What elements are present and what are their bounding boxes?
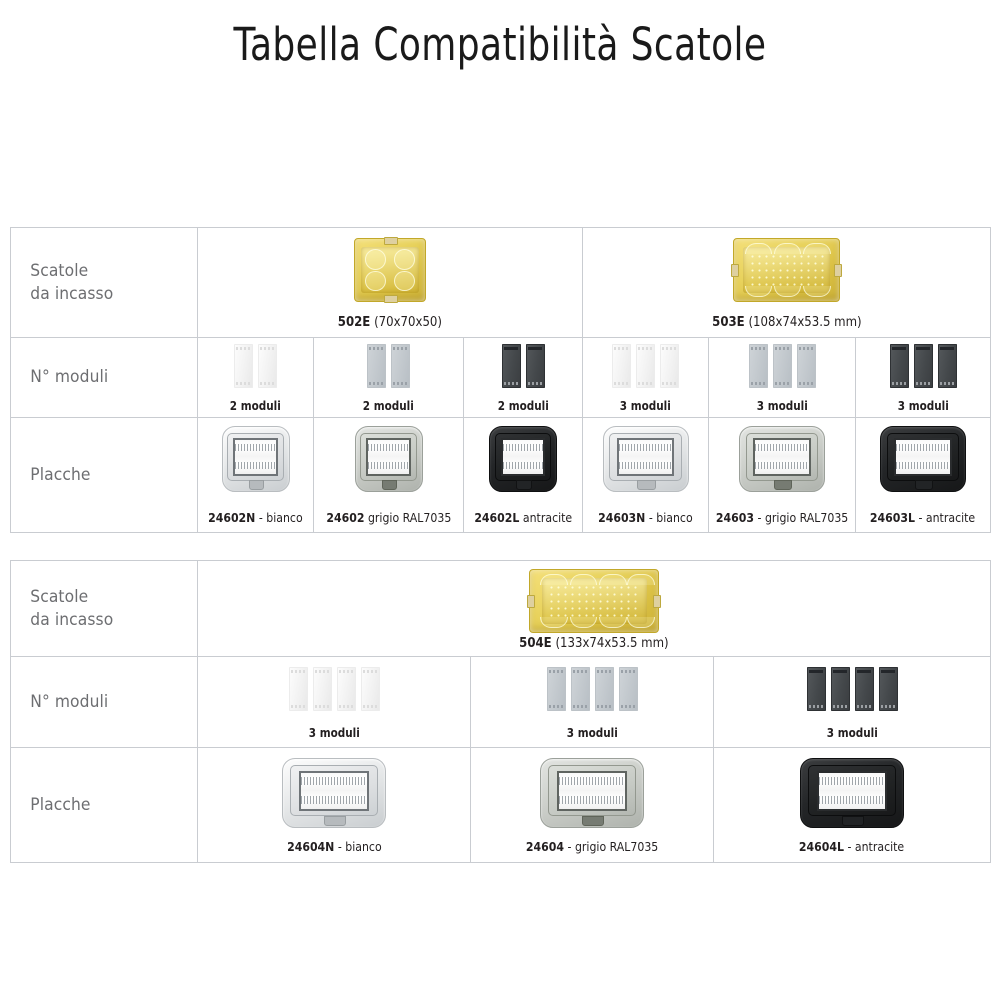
row-label-placche: Placche bbox=[11, 748, 187, 863]
box-caption-502e: 502E (70x70x50) bbox=[338, 316, 442, 330]
row-label-moduli-text: N° moduli bbox=[30, 367, 108, 386]
module-count-label: 3 moduli bbox=[897, 400, 948, 412]
row-label-moduli: N° moduli bbox=[11, 657, 187, 748]
plate-cell-24602l: 24602L antracite bbox=[464, 418, 583, 533]
plate-image-antracite bbox=[489, 426, 557, 492]
page-title: Tabella Compatibilità Scatole bbox=[100, 18, 900, 71]
plate-cell-24604l: 24604L - antracite bbox=[714, 748, 991, 863]
plate-caption: 24604 - grigio RAL7035 bbox=[526, 841, 658, 854]
row-label-scatole-line1: Scatole bbox=[30, 587, 88, 606]
module-cell-4-grigio: 3 moduli bbox=[471, 657, 714, 748]
row-label-moduli: N° moduli bbox=[11, 338, 187, 418]
plate-caption: 24604N - bianco bbox=[287, 841, 382, 854]
plate-caption: 24603 - grigio RAL7035 bbox=[716, 512, 848, 525]
module-swatches-grigio bbox=[367, 344, 410, 388]
table-row-placche: Placche 24604N - bianco bbox=[11, 748, 991, 863]
row-label-scatole: Scatole da incasso bbox=[11, 228, 187, 338]
plate-caption: 24602N - bianco bbox=[208, 512, 303, 525]
plate-image-bianco bbox=[222, 426, 290, 492]
box-cell-502e: 502E (70x70x50) bbox=[198, 228, 583, 338]
row-label-placche-text: Placche bbox=[30, 465, 90, 484]
box-cell-504e: 504E (133x74x53.5 mm) bbox=[198, 561, 991, 657]
module-swatches-antracite bbox=[890, 344, 957, 388]
plate-image-bianco bbox=[282, 758, 386, 828]
compatibility-table-502e-503e: Scatole da incasso bbox=[10, 227, 991, 533]
plate-cell-24602-grigio: 24602 grigio RAL7035 bbox=[314, 418, 464, 533]
module-count-label: 3 moduli bbox=[620, 400, 671, 412]
plate-cell-24602n: 24602N - bianco bbox=[198, 418, 314, 533]
row-label-placche: Placche bbox=[11, 418, 187, 533]
table-row-scatole: Scatole da incasso bbox=[11, 228, 991, 338]
module-count-label: 2 moduli bbox=[363, 400, 414, 412]
plate-caption: 24604L - antracite bbox=[799, 841, 904, 854]
plate-cell-24604-grigio: 24604 - grigio RAL7035 bbox=[471, 748, 714, 863]
row-label-scatole: Scatole da incasso bbox=[11, 561, 187, 657]
module-cell-3-grigio: 3 moduli bbox=[709, 338, 856, 418]
table-row-moduli: N° moduli 3 moduli 3 modu bbox=[11, 657, 991, 748]
plate-image-grigio bbox=[540, 758, 644, 828]
module-swatches-grigio bbox=[547, 667, 638, 711]
table-row-moduli: N° moduli 2 moduli 2 mod bbox=[11, 338, 991, 418]
compatibility-table-page: Tabella Compatibilità Scatole Scatole da… bbox=[0, 0, 1000, 1000]
compatibility-table-504e: Scatole da incasso bbox=[10, 560, 991, 863]
box-cell-503e: 503E (108x74x53.5 mm) bbox=[583, 228, 991, 338]
plate-cell-24603n: 24603N - bianco bbox=[583, 418, 709, 533]
row-label-scatole-line2: da incasso bbox=[30, 609, 186, 631]
module-swatches-bianco bbox=[289, 667, 380, 711]
module-swatches-bianco bbox=[234, 344, 277, 388]
plate-image-antracite bbox=[800, 758, 904, 828]
plate-cell-24603l: 24603L - antracite bbox=[856, 418, 991, 533]
module-swatches-grigio bbox=[749, 344, 816, 388]
module-cell-4-bianco: 3 moduli bbox=[198, 657, 471, 748]
plate-image-bianco bbox=[603, 426, 689, 492]
table-row-placche: Placche 24602N - bianco bbox=[11, 418, 991, 533]
plate-cell-24603-grigio: 24603 - grigio RAL7035 bbox=[709, 418, 856, 533]
module-swatches-bianco bbox=[612, 344, 679, 388]
module-count-label: 2 moduli bbox=[230, 400, 281, 412]
row-label-scatole-line2: da incasso bbox=[30, 283, 186, 305]
module-count-label: 3 moduli bbox=[308, 727, 359, 739]
module-swatches-antracite bbox=[807, 667, 898, 711]
module-count-label: 3 moduli bbox=[756, 400, 807, 412]
row-label-moduli-text: N° moduli bbox=[30, 692, 108, 711]
plate-caption: 24602 grigio RAL7035 bbox=[326, 512, 451, 525]
plate-cell-24604n: 24604N - bianco bbox=[198, 748, 471, 863]
plate-caption: 24603N - bianco bbox=[598, 512, 693, 525]
module-count-label: 2 moduli bbox=[497, 400, 548, 412]
junction-box-504e-image bbox=[529, 569, 659, 633]
module-cell-2-grigio: 2 moduli bbox=[314, 338, 464, 418]
row-label-placche-text: Placche bbox=[30, 795, 90, 814]
module-cell-3-antracite: 3 moduli bbox=[856, 338, 991, 418]
junction-box-503e-image bbox=[733, 238, 840, 302]
row-label-scatole-line1: Scatole bbox=[30, 261, 88, 280]
box-caption-503e: 503E (108x74x53.5 mm) bbox=[712, 316, 861, 330]
plate-image-grigio bbox=[739, 426, 825, 492]
module-count-label: 3 moduli bbox=[566, 727, 617, 739]
box-caption-504e: 504E (133x74x53.5 mm) bbox=[519, 637, 668, 651]
module-cell-2-bianco: 2 moduli bbox=[198, 338, 314, 418]
plate-caption: 24603L - antracite bbox=[870, 512, 975, 525]
plate-image-antracite bbox=[880, 426, 966, 492]
module-swatches-antracite bbox=[502, 344, 545, 388]
module-count-label: 3 moduli bbox=[826, 727, 877, 739]
module-cell-4-antracite: 3 moduli bbox=[714, 657, 991, 748]
table-row-scatole: Scatole da incasso bbox=[11, 561, 991, 657]
junction-box-502e-image bbox=[354, 238, 426, 302]
plate-caption: 24602L antracite bbox=[474, 512, 572, 525]
plate-image-grigio bbox=[355, 426, 423, 492]
module-cell-2-antracite: 2 moduli bbox=[464, 338, 583, 418]
module-cell-3-bianco: 3 moduli bbox=[583, 338, 709, 418]
